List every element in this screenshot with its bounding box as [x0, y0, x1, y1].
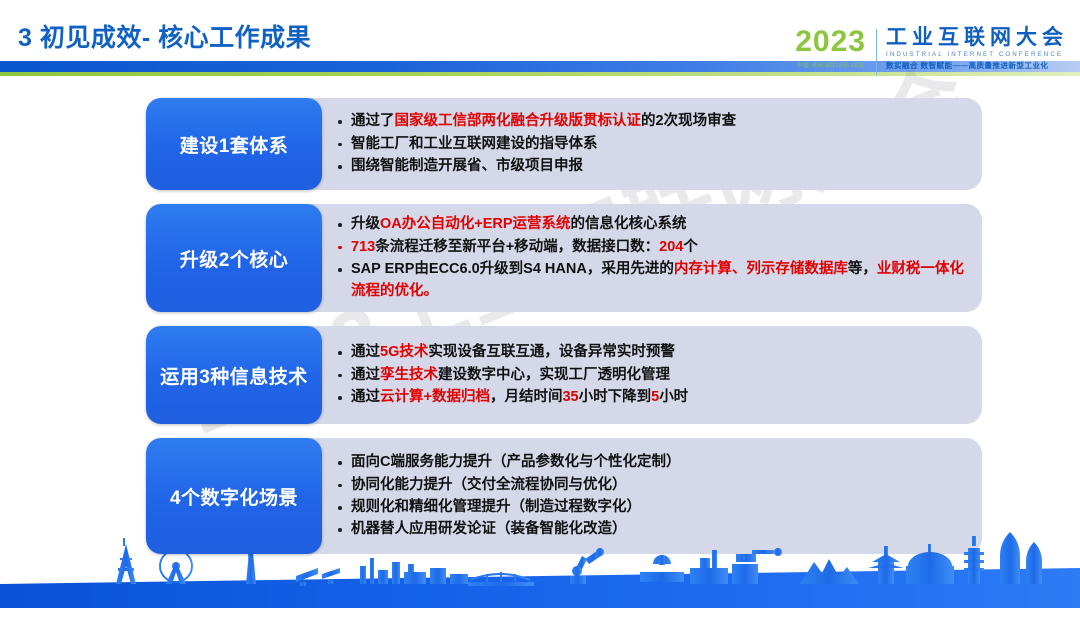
bullet-item: 规则化和精细化管理提升（制造过程数字化） — [336, 496, 968, 518]
bullet-text: 等， — [848, 261, 877, 277]
row-label-4[interactable]: 4个数字化场景 — [146, 438, 322, 554]
logo-name-en: INDUSTRIAL INTERNET CONFERENCE — [886, 51, 1068, 58]
bullet-text: 小时下降到 — [579, 389, 652, 405]
bullet-text: 通过了 — [351, 113, 395, 129]
logo-name-block: 工业互联网大会 INDUSTRIAL INTERNET CONFERENCE 数… — [886, 27, 1068, 71]
row-panel-2: 升级OA办公自动化+ERP运营系统的信息化核心系统713条流程迁移至新平台+移动… — [310, 204, 982, 312]
bullet-text: SAP ERP由ECC6.0升级到S4 HANA，采用先进的 — [351, 261, 674, 277]
row-label-1[interactable]: 建设1套体系 — [146, 98, 322, 190]
bullet-text: 围绕智能制造开展省、市级项目申报 — [351, 158, 583, 174]
bullet-text: 的信息化核心系统 — [571, 216, 687, 232]
bullet-highlight: 713 — [351, 239, 375, 255]
page-title: 3 初见成效- 核心工作成果 — [18, 18, 311, 54]
row-label-2[interactable]: 升级2个核心 — [146, 204, 322, 312]
logo-name-cn: 工业互联网大会 — [886, 27, 1068, 49]
bullet-text: 小时 — [659, 389, 688, 405]
bullet-highlight: 云计算+数据归档 — [380, 389, 490, 405]
bullet-text: 通过 — [351, 367, 380, 383]
bullet-text: 面向C端服务能力提升（产品参数化与个性化定制） — [351, 454, 680, 470]
bullet-highlight: 内存计算、列示存储数据库 — [674, 261, 848, 277]
content-rows: 建设1套体系通过了国家级工信部两化融合升级版贯标认证的2次现场审查智能工厂和工业… — [146, 98, 982, 568]
bullet-text: 规则化和精细化管理提升（制造过程数字化） — [351, 499, 641, 515]
bullet-item: 围绕智能制造开展省、市级项目申报 — [336, 155, 968, 177]
bullet-highlight: 5G技术 — [380, 344, 428, 360]
bullet-text: 个 — [683, 239, 698, 255]
bullet-item: SAP ERP由ECC6.0升级到S4 HANA，采用先进的内存计算、列示存储数… — [336, 258, 968, 303]
bullet-text: 通过 — [351, 344, 380, 360]
bullet-text: 升级 — [351, 216, 380, 232]
bullet-item: 智能工厂和工业互联网建设的指导体系 — [336, 133, 968, 155]
slide-root: 3 初见成效- 核心工作成果 2023 中国·苏州 8月14日-16日 工业互联… — [0, 0, 1080, 608]
row-label-3[interactable]: 运用3种信息技术 — [146, 326, 322, 424]
bullet-item: 通过云计算+数据归档，月结时间35小时下降到5小时 — [336, 386, 968, 408]
logo-separator — [876, 29, 877, 75]
logo-subtitle: 数实融合 数智赋能——高质量推进新型工业化 — [886, 60, 1068, 71]
bullet-highlight: 35 — [562, 389, 578, 405]
bullet-item: 面向C端服务能力提升（产品参数化与个性化定制） — [336, 451, 968, 473]
bullet-item: 713条流程迁移至新平台+移动端，数据接口数：204个 — [336, 236, 968, 258]
row-panel-3: 通过5G技术实现设备互联互通，设备异常实时预警通过孪生技术建设数字中心，实现工厂… — [310, 326, 982, 424]
logo-date-line: 中国·苏州 8月14日-16日 — [797, 61, 864, 69]
bullet-text: 智能工厂和工业互联网建设的指导体系 — [351, 136, 598, 152]
bullet-highlight: 5 — [651, 389, 659, 405]
logo-year-block: 2023 中国·苏州 8月14日-16日 — [795, 27, 876, 69]
content-row: 运用3种信息技术通过5G技术实现设备互联互通，设备异常实时预警通过孪生技术建设数… — [146, 326, 982, 424]
bullet-item: 通过孪生技术建设数字中心，实现工厂透明化管理 — [336, 364, 968, 386]
bullet-item: 升级OA办公自动化+ERP运营系统的信息化核心系统 — [336, 213, 968, 235]
logo-year: 2023 — [795, 27, 866, 57]
bullet-text: 协同化能力提升（交付全流程协同与优化） — [351, 477, 627, 493]
bullet-text: 建设数字中心，实现工厂透明化管理 — [438, 367, 670, 383]
bullet-text: 实现设备互联互通，设备异常实时预警 — [428, 344, 675, 360]
bullet-highlight: OA办公自动化+ERP运营系统 — [380, 216, 571, 232]
bullet-text: 条流程迁移至新平台+移动端，数据接口数： — [375, 239, 659, 255]
bullet-text: 的2次现场审查 — [641, 113, 736, 129]
bullet-highlight: 国家级工信部两化融合升级版贯标认证 — [395, 113, 642, 129]
bullet-item: 协同化能力提升（交付全流程协同与优化） — [336, 474, 968, 496]
conference-logo: 2023 中国·苏州 8月14日-16日 工业互联网大会 INDUSTRIAL … — [795, 27, 1068, 79]
bullet-text: 通过 — [351, 389, 380, 405]
bullet-text: ，月结时间 — [490, 389, 563, 405]
bullet-item: 通过5G技术实现设备互联互通，设备异常实时预警 — [336, 341, 968, 363]
bullet-highlight: 孪生技术 — [380, 367, 438, 383]
row-panel-1: 通过了国家级工信部两化融合升级版贯标认证的2次现场审查智能工厂和工业互联网建设的… — [310, 98, 982, 190]
bullet-highlight: 204 — [659, 239, 683, 255]
bullet-item: 通过了国家级工信部两化融合升级版贯标认证的2次现场审查 — [336, 110, 968, 132]
content-row: 升级2个核心升级OA办公自动化+ERP运营系统的信息化核心系统713条流程迁移至… — [146, 204, 982, 312]
content-row: 建设1套体系通过了国家级工信部两化融合升级版贯标认证的2次现场审查智能工厂和工业… — [146, 98, 982, 190]
